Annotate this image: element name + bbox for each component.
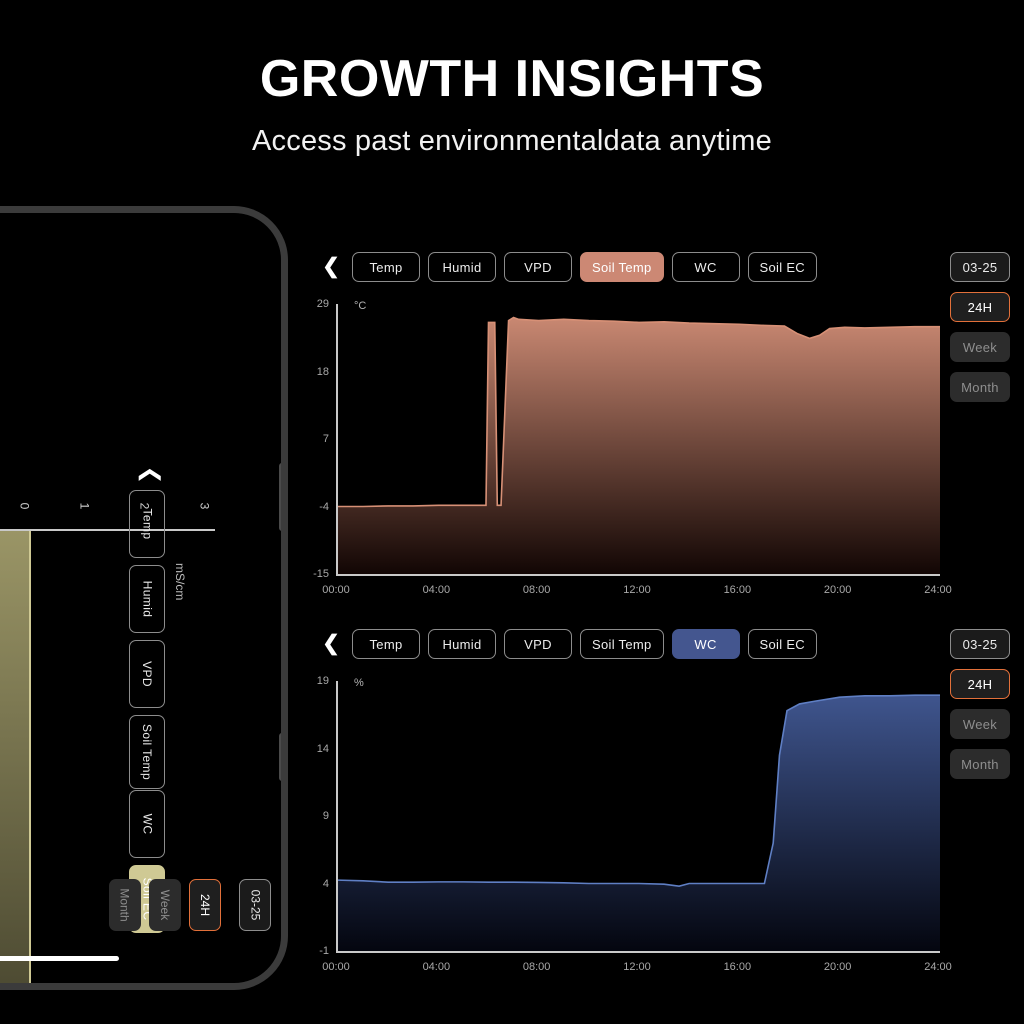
metric-tab-label: Temp [370, 637, 403, 652]
phone-metric-tab-label: Temp [140, 509, 154, 540]
y-axis-tick-label: 18 [317, 366, 329, 378]
metric-tab-humid[interactable]: Humid [428, 629, 496, 659]
phone-chart-axis [0, 529, 215, 531]
range-button-label: Month [961, 380, 999, 395]
range-button-label: Week [963, 717, 997, 732]
y-axis-tick-label: 14 [317, 743, 329, 755]
phone-metric-tab-humid[interactable]: Humid [129, 565, 165, 633]
range-button-label: Week [963, 340, 997, 355]
metric-tab-list: TempHumidVPDSoil TempWCSoil EC [352, 252, 825, 282]
metric-tab-soil-ec[interactable]: Soil EC [748, 252, 817, 282]
x-axis-tick-label: 16:00 [724, 961, 752, 973]
metric-tab-label: WC [694, 637, 716, 652]
y-axis-unit: °C [354, 300, 366, 312]
metric-tab-temp[interactable]: Temp [352, 629, 420, 659]
date-button[interactable]: 03-25 [950, 629, 1010, 659]
phone-range-label: 03-25 [248, 890, 262, 921]
phone-metric-tab-wc[interactable]: WC [129, 790, 165, 858]
range-button-label: Month [961, 757, 999, 772]
chevron-up-icon[interactable]: ❮ [137, 461, 165, 489]
phone-range-week[interactable]: Week [149, 879, 181, 931]
soil-temp-siderow: 03-25 24HWeekMonth [950, 252, 1024, 412]
metric-tab-vpd[interactable]: VPD [504, 629, 572, 659]
metric-tab-label: VPD [524, 260, 552, 275]
metric-tab-label: VPD [524, 637, 552, 652]
metric-tab-wc[interactable]: WC [672, 629, 740, 659]
x-axis-tick-label: 08:00 [523, 584, 551, 596]
range-button-list: 24HWeekMonth [950, 292, 1024, 402]
x-axis-tick-label: 04:00 [423, 584, 451, 596]
metric-tab-soil-temp[interactable]: Soil Temp [580, 629, 664, 659]
metric-tab-vpd[interactable]: VPD [504, 252, 572, 282]
metric-tab-label: Soil EC [760, 260, 805, 275]
phone-metric-tab-soil-temp[interactable]: Soil Temp [129, 715, 165, 789]
range-button-list: 24HWeekMonth [950, 669, 1024, 779]
plot-area [338, 304, 940, 574]
y-axis-tick-label: -15 [313, 568, 329, 580]
range-button-month[interactable]: Month [950, 749, 1010, 779]
home-indicator [0, 956, 119, 961]
page-subtitle: Access past environmentaldata anytime [0, 125, 1024, 158]
x-axis-tick-label: 00:00 [322, 961, 350, 973]
phone-range-24h[interactable]: 24H [189, 879, 221, 931]
y-axis-tick-label: 4 [323, 878, 329, 890]
x-axis-tick-label: 12:00 [623, 961, 651, 973]
screenshot-root: GROWTH INSIGHTS Access past environmenta… [0, 0, 1024, 1024]
phone-metric-tab-temp[interactable]: Temp [129, 490, 165, 558]
metric-tab-label: Soil EC [760, 637, 805, 652]
wc-siderow: 03-25 24HWeekMonth [950, 629, 1024, 789]
plot-area [338, 681, 940, 951]
range-button-week[interactable]: Week [950, 709, 1010, 739]
range-button-label: 24H [968, 677, 993, 692]
metric-tab-temp[interactable]: Temp [352, 252, 420, 282]
phone-side-button [279, 463, 285, 531]
y-axis-tick-label: -4 [319, 501, 329, 513]
phone-metric-tab-label: Humid [140, 581, 154, 618]
range-button-24h[interactable]: 24H [950, 292, 1010, 322]
phone-chart-area [0, 531, 31, 983]
phone-mockup: 0123 mS/cm ❮ TempHumidVPDSoil TempWCSoil… [0, 206, 288, 990]
y-axis-tick-label: 7 [323, 433, 329, 445]
phone-metric-tab-label: WC [140, 814, 154, 835]
metric-tab-label: Soil Temp [592, 637, 652, 652]
phone-range-label: 24H [198, 894, 212, 916]
range-button-label: 24H [968, 300, 993, 315]
metric-tab-label: Humid [442, 260, 481, 275]
x-axis-tick-label: 08:00 [523, 961, 551, 973]
x-axis-tick-label: 20:00 [824, 961, 852, 973]
x-axis-tick-label: 24:00 [924, 584, 952, 596]
x-axis-tick-label: 12:00 [623, 584, 651, 596]
phone-range-label: Month [118, 888, 132, 921]
chevron-left-icon[interactable]: ❮ [318, 630, 344, 658]
phone-screen: 0123 mS/cm ❮ TempHumidVPDSoil TempWCSoil… [0, 213, 281, 983]
wc-tabrow: ❮ TempHumidVPDSoil TempWCSoil EC [318, 629, 825, 659]
phone-metric-tab-label: VPD [140, 661, 154, 687]
phone-metric-tab-vpd[interactable]: VPD [129, 640, 165, 708]
y-axis-tick-label: 19 [317, 675, 329, 687]
metric-tab-humid[interactable]: Humid [428, 252, 496, 282]
x-axis-tick-label: 00:00 [322, 584, 350, 596]
phone-range-03-25[interactable]: 03-25 [239, 879, 271, 931]
y-axis-tick-label: 9 [323, 810, 329, 822]
header: GROWTH INSIGHTS Access past environmenta… [0, 52, 1024, 158]
y-axis-tick-label: -1 [319, 945, 329, 957]
phone-axis-tick: 1 [77, 503, 91, 510]
y-axis-unit: % [354, 677, 364, 689]
range-button-week[interactable]: Week [950, 332, 1010, 362]
phone-range-month[interactable]: Month [109, 879, 141, 931]
soil-temp-chart: °C 29187-4-1500:0004:0008:0012:0016:0020… [336, 304, 940, 576]
x-axis-line [336, 574, 940, 576]
phone-metric-tab-label: Soil Temp [140, 724, 154, 780]
phone-range-label: Week [158, 890, 172, 920]
x-axis-line [336, 951, 940, 953]
metric-tab-label: WC [694, 260, 716, 275]
soil-temp-tabrow: ❮ TempHumidVPDSoil TempWCSoil EC [318, 252, 825, 282]
range-button-24h[interactable]: 24H [950, 669, 1010, 699]
phone-axis-unit: mS/cm [173, 563, 187, 600]
date-button[interactable]: 03-25 [950, 252, 1010, 282]
phone-axis-tick: 0 [17, 503, 31, 510]
page-title: GROWTH INSIGHTS [0, 52, 1024, 107]
metric-tab-soil-temp[interactable]: Soil Temp [580, 252, 664, 282]
phone-axis-tick: 3 [197, 503, 211, 510]
x-axis-tick-label: 24:00 [924, 961, 952, 973]
metric-tab-wc[interactable]: WC [672, 252, 740, 282]
x-axis-tick-label: 04:00 [423, 961, 451, 973]
metric-tab-label: Temp [370, 260, 403, 275]
x-axis-tick-label: 20:00 [824, 584, 852, 596]
wc-chart: % 191494-100:0004:0008:0012:0016:0020:00… [336, 681, 940, 953]
y-axis-tick-label: 29 [317, 298, 329, 310]
chevron-left-icon[interactable]: ❮ [318, 253, 344, 281]
metric-tab-soil-ec[interactable]: Soil EC [748, 629, 817, 659]
metric-tab-label: Soil Temp [592, 260, 652, 275]
range-button-month[interactable]: Month [950, 372, 1010, 402]
x-axis-tick-label: 16:00 [724, 584, 752, 596]
metric-tab-list: TempHumidVPDSoil TempWCSoil EC [352, 629, 825, 659]
phone-side-button-2 [279, 733, 285, 781]
metric-tab-label: Humid [442, 637, 481, 652]
